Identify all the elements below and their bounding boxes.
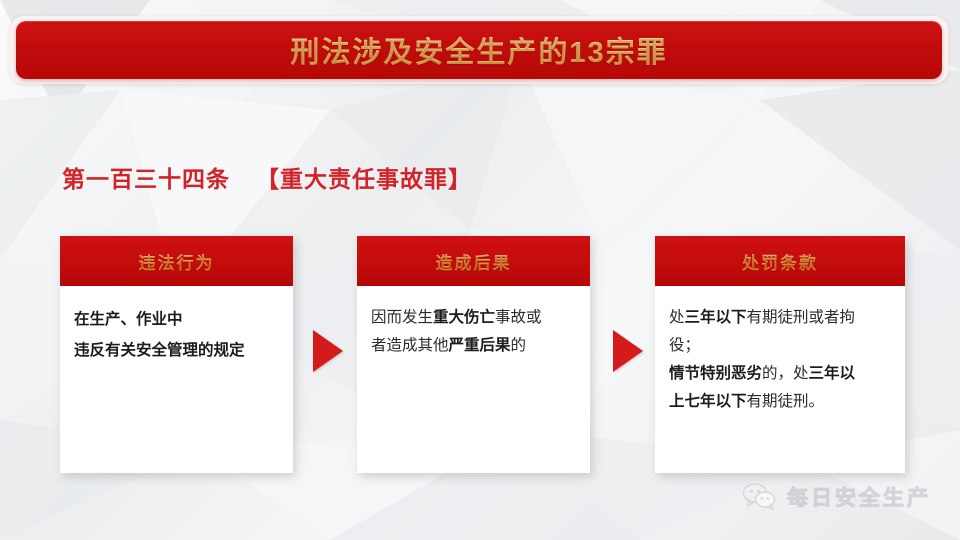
card-penalty: 处罚条款 处三年以下有期徒刑或者拘役；情节特别恶劣的，处三年以上七年以下有期徒刑… bbox=[655, 236, 905, 473]
card-text-line: 处三年以下有期徒刑或者拘 bbox=[669, 304, 891, 332]
plain-text: 有期徒刑或者拘 bbox=[747, 309, 856, 326]
card-header-label: 造成后果 bbox=[436, 249, 512, 274]
card-text-line: 上七年以下有期徒刑。 bbox=[669, 388, 891, 416]
card-text-line: 者造成其他严重后果的 bbox=[371, 332, 576, 360]
slide-canvas: 刑法涉及安全生产的13宗罪 第一百三十四条【重大责任事故罪】 违法行为 在生产、… bbox=[0, 0, 960, 540]
page-title: 刑法涉及安全生产的13宗罪 bbox=[290, 29, 667, 71]
article-number: 第一百三十四条 bbox=[62, 166, 230, 192]
watermark: 每日安全生产 bbox=[742, 482, 931, 512]
plain-text: 事故或 bbox=[495, 309, 542, 326]
plain-text: 处 bbox=[669, 309, 685, 326]
card-text-line: 在生产、作业中 bbox=[74, 304, 279, 335]
card-header: 造成后果 bbox=[357, 236, 590, 286]
emphasis-text: 重大伤亡 bbox=[433, 309, 495, 326]
emphasis-text: 上七年以下 bbox=[669, 393, 747, 410]
emphasis-text: 在生产、作业中 bbox=[74, 311, 183, 328]
article-subtitle: 第一百三十四条【重大责任事故罪】 bbox=[62, 160, 472, 194]
title-banner-inner: 刑法涉及安全生产的13宗罪 bbox=[16, 21, 942, 79]
emphasis-text: 违反有关安全管理的规定 bbox=[74, 342, 245, 359]
card-text-line: 因而发生重大伤亡事故或 bbox=[371, 304, 576, 332]
card-header-label: 违法行为 bbox=[139, 249, 215, 274]
emphasis-text: 情节特别恶劣 bbox=[669, 365, 762, 382]
card-body: 因而发生重大伤亡事故或者造成其他严重后果的 bbox=[357, 286, 590, 360]
card-text-line: 情节特别恶劣的，处三年以 bbox=[669, 360, 891, 388]
card-body: 处三年以下有期徒刑或者拘役；情节特别恶劣的，处三年以上七年以下有期徒刑。 bbox=[655, 286, 905, 416]
card-text-line: 违反有关安全管理的规定 bbox=[74, 335, 279, 366]
plain-text: 的，处 bbox=[762, 365, 809, 382]
card-header-label: 处罚条款 bbox=[742, 249, 818, 274]
crime-name: 【重大责任事故罪】 bbox=[256, 166, 472, 192]
card-body: 在生产、作业中违反有关安全管理的规定 bbox=[60, 286, 293, 366]
card-text-line: 役； bbox=[669, 332, 891, 360]
watermark-label: 每日安全生产 bbox=[787, 482, 931, 512]
plain-text: 的 bbox=[511, 337, 527, 354]
emphasis-text: 三年以下 bbox=[685, 309, 747, 326]
emphasis-text: 三年以 bbox=[809, 365, 856, 382]
arrow-right-icon bbox=[313, 330, 343, 372]
plain-text: 有期徒刑。 bbox=[747, 393, 825, 410]
title-banner: 刑法涉及安全生产的13宗罪 bbox=[10, 16, 948, 84]
card-violation: 违法行为 在生产、作业中违反有关安全管理的规定 bbox=[60, 236, 293, 473]
emphasis-text: 严重后果 bbox=[449, 337, 511, 354]
card-header: 处罚条款 bbox=[655, 236, 905, 286]
card-consequence: 造成后果 因而发生重大伤亡事故或者造成其他严重后果的 bbox=[357, 236, 590, 473]
plain-text: 役； bbox=[669, 337, 700, 354]
plain-text: 者造成其他 bbox=[371, 337, 449, 354]
arrow-right-icon bbox=[613, 330, 643, 372]
card-header: 违法行为 bbox=[60, 236, 293, 286]
wechat-icon bbox=[742, 483, 778, 511]
plain-text: 因而发生 bbox=[371, 309, 433, 326]
